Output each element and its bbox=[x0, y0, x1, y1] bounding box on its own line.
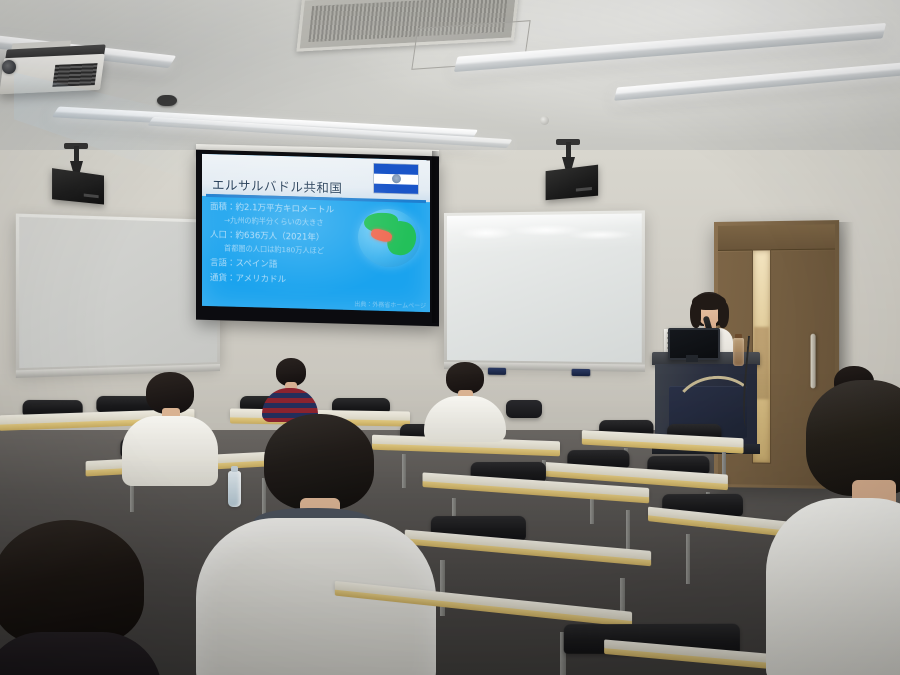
podium-monitor bbox=[668, 328, 716, 362]
speaker-badge bbox=[576, 187, 592, 192]
el-salvador-flag-icon bbox=[374, 164, 418, 194]
flag-coat-of-arms bbox=[392, 174, 401, 183]
speaker-left bbox=[52, 146, 108, 206]
screen-side-shadow bbox=[432, 151, 439, 323]
world-map-icon bbox=[358, 208, 420, 268]
ceiling-projector bbox=[2, 42, 114, 94]
presenter-hair-left bbox=[690, 302, 701, 328]
presenter-hair-right bbox=[718, 302, 729, 328]
student-center-gray bbox=[196, 414, 436, 675]
student-head bbox=[264, 414, 374, 510]
student-head bbox=[806, 380, 900, 496]
speaker-cabinet bbox=[52, 168, 104, 204]
flag-band-bottom bbox=[374, 183, 418, 194]
flag-band-top bbox=[374, 164, 418, 175]
projection-screen: エルサルバドル共和国 面積：約2.1万平方キロメートル →九州の約半分くらいの大… bbox=[196, 147, 439, 323]
student-torso bbox=[0, 632, 162, 675]
speaker-badge bbox=[84, 194, 99, 199]
classroom-photo: エルサルバドル共和国 面積：約2.1万平方キロメートル →九州の約半分くらいの大… bbox=[0, 0, 900, 675]
door-transom bbox=[718, 224, 835, 251]
speaker-right bbox=[544, 142, 600, 202]
presentation-slide: エルサルバドル共和国 面積：約2.1万平方キロメートル →九州の約半分くらいの大… bbox=[202, 154, 430, 312]
whiteboard-left bbox=[16, 214, 220, 372]
speaker-cabinet bbox=[546, 165, 598, 201]
whiteboard-eraser[interactable] bbox=[572, 369, 591, 376]
drink-bottle bbox=[733, 338, 744, 366]
whiteboard-surface bbox=[447, 213, 642, 362]
student-torso bbox=[424, 396, 506, 442]
slide-bullet: 通貨：アメリカドル bbox=[210, 271, 422, 289]
monitor-stand bbox=[686, 355, 698, 362]
projector-lens-icon bbox=[2, 60, 16, 74]
whiteboard-right bbox=[444, 210, 645, 365]
student-center-white bbox=[424, 362, 506, 440]
student-right-white bbox=[766, 380, 900, 675]
student-front-left bbox=[22, 498, 142, 598]
ceiling-fitting bbox=[540, 116, 549, 125]
student-torso bbox=[766, 498, 900, 675]
whiteboard-glare bbox=[455, 220, 634, 245]
projector-vent bbox=[52, 63, 97, 87]
desk-leg bbox=[626, 510, 630, 554]
slide-footer-note: 出典：外務省ホームページ bbox=[354, 299, 426, 310]
whiteboard-surface bbox=[19, 217, 217, 368]
smoke-detector-icon bbox=[157, 95, 177, 106]
student-striped bbox=[262, 358, 318, 420]
desk-bag bbox=[506, 400, 542, 418]
desk-leg bbox=[686, 534, 690, 584]
